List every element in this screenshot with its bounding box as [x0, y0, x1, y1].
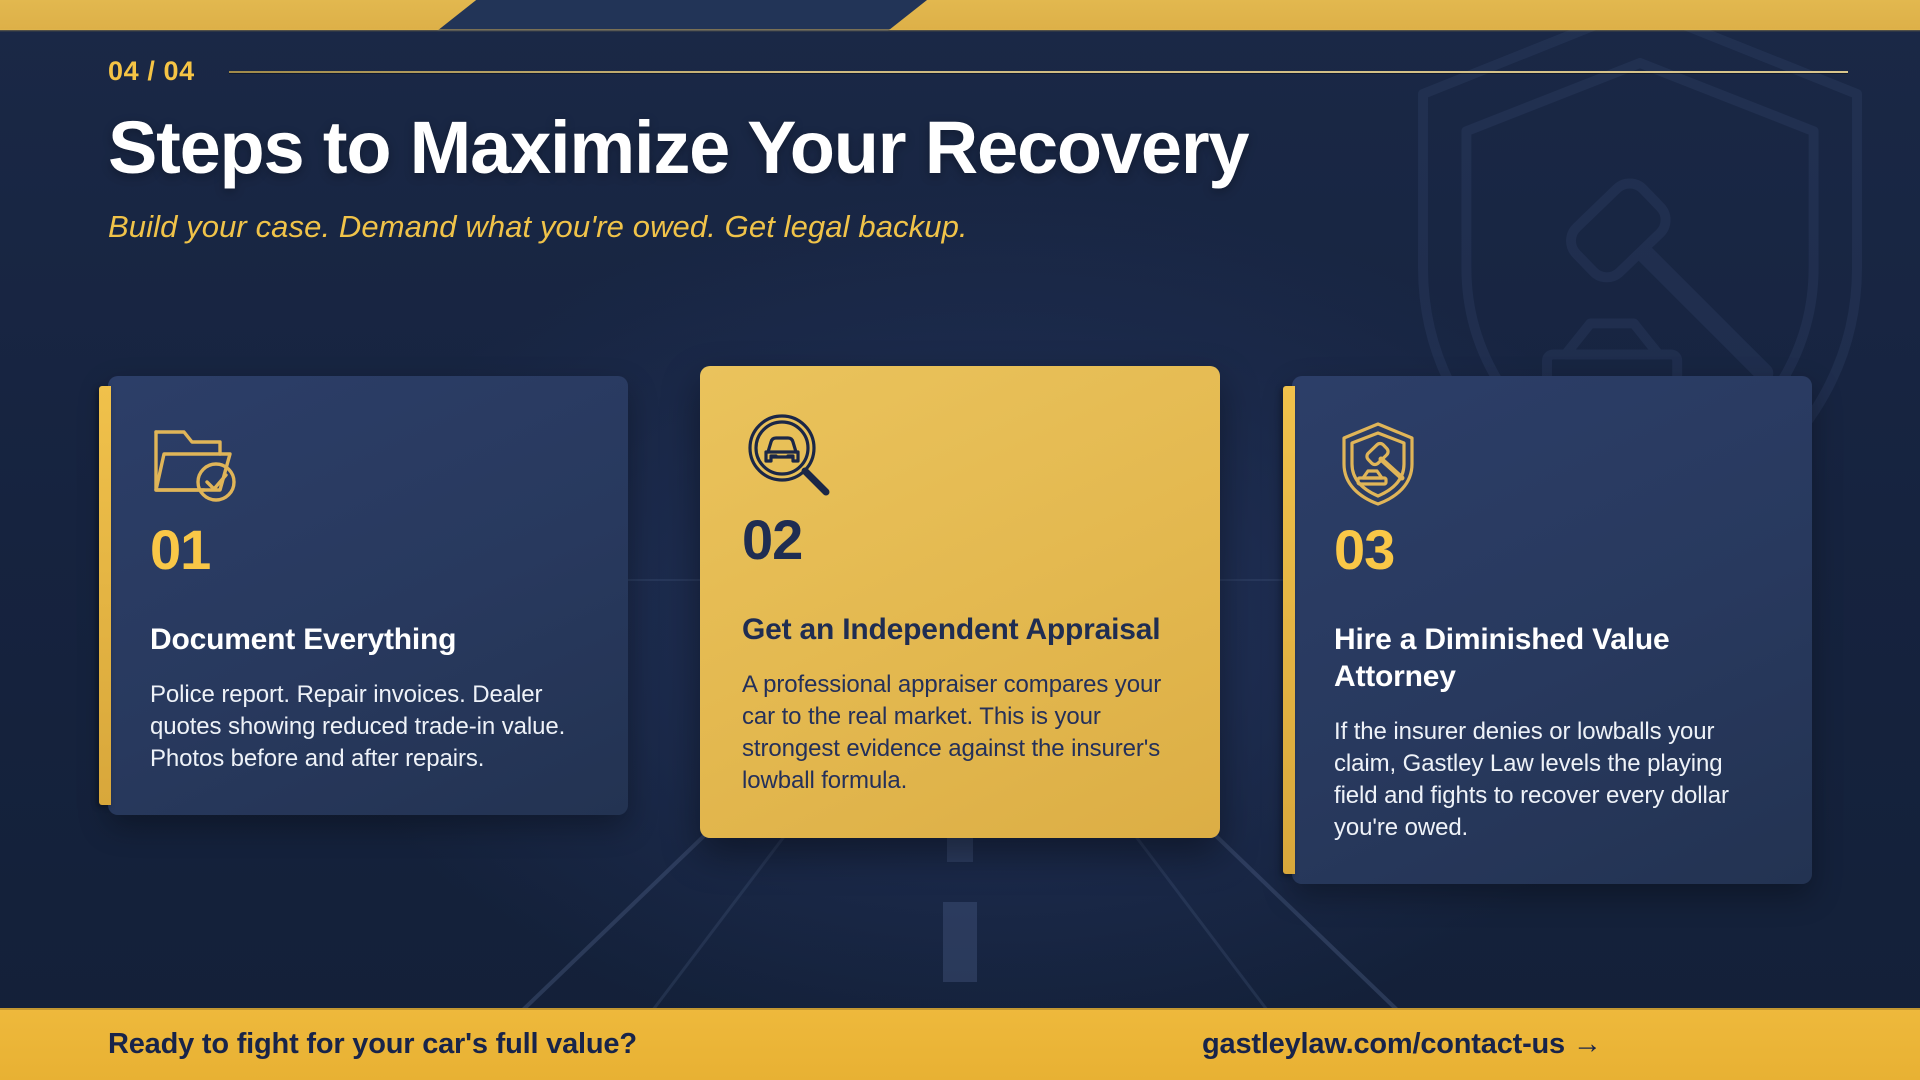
card-title: Document Everything	[150, 622, 588, 659]
footer-url-link[interactable]: gastleylaw.com/contact-us →	[1202, 1028, 1602, 1061]
top-band-edge	[0, 29, 1920, 32]
slide-root: 04 / 04 Steps to Maximize Your Recovery …	[0, 0, 1920, 1080]
page-subtitle: Build your case. Demand what you're owed…	[108, 209, 1848, 245]
shield-gavel-icon	[1334, 420, 1772, 506]
footer-top-edge	[0, 1008, 1920, 1010]
step-card-02[interactable]: 02 Get an Independent Appraisal A profes…	[700, 366, 1220, 838]
step-card-03[interactable]: 03 Hire a Diminished Value Attorney If t…	[1292, 376, 1812, 884]
slide-counter: 04 / 04	[108, 56, 195, 87]
card-title: Hire a Diminished Value Attorney	[1334, 622, 1772, 696]
step-card-01[interactable]: 01 Document Everything Police report. Re…	[108, 376, 628, 815]
header: 04 / 04 Steps to Maximize Your Recovery …	[108, 56, 1848, 245]
card-number: 02	[742, 512, 1180, 568]
card-accent-bar	[99, 386, 111, 805]
card-body: Police report. Repair invoices. Dealer q…	[150, 679, 588, 775]
folder-check-icon	[150, 420, 588, 506]
footer-cta-text: Ready to fight for your car's full value…	[108, 1028, 637, 1061]
card-body: A professional appraiser compares your c…	[742, 669, 1180, 798]
magnifier-car-icon	[742, 410, 1180, 496]
page-title: Steps to Maximize Your Recovery	[108, 109, 1848, 187]
card-body: If the insurer denies or lowballs your c…	[1334, 716, 1772, 845]
top-gold-band	[0, 0, 1920, 30]
slide-counter-row: 04 / 04	[108, 56, 1848, 87]
card-number: 01	[150, 522, 588, 578]
card-number: 03	[1334, 522, 1772, 578]
footer-bar: Ready to fight for your car's full value…	[0, 1008, 1920, 1080]
card-title: Get an Independent Appraisal	[742, 612, 1180, 649]
counter-divider	[229, 71, 1848, 73]
step-cards: 01 Document Everything Police report. Re…	[108, 376, 1814, 884]
top-band-notch	[437, 0, 927, 31]
card-accent-bar	[1283, 386, 1295, 874]
